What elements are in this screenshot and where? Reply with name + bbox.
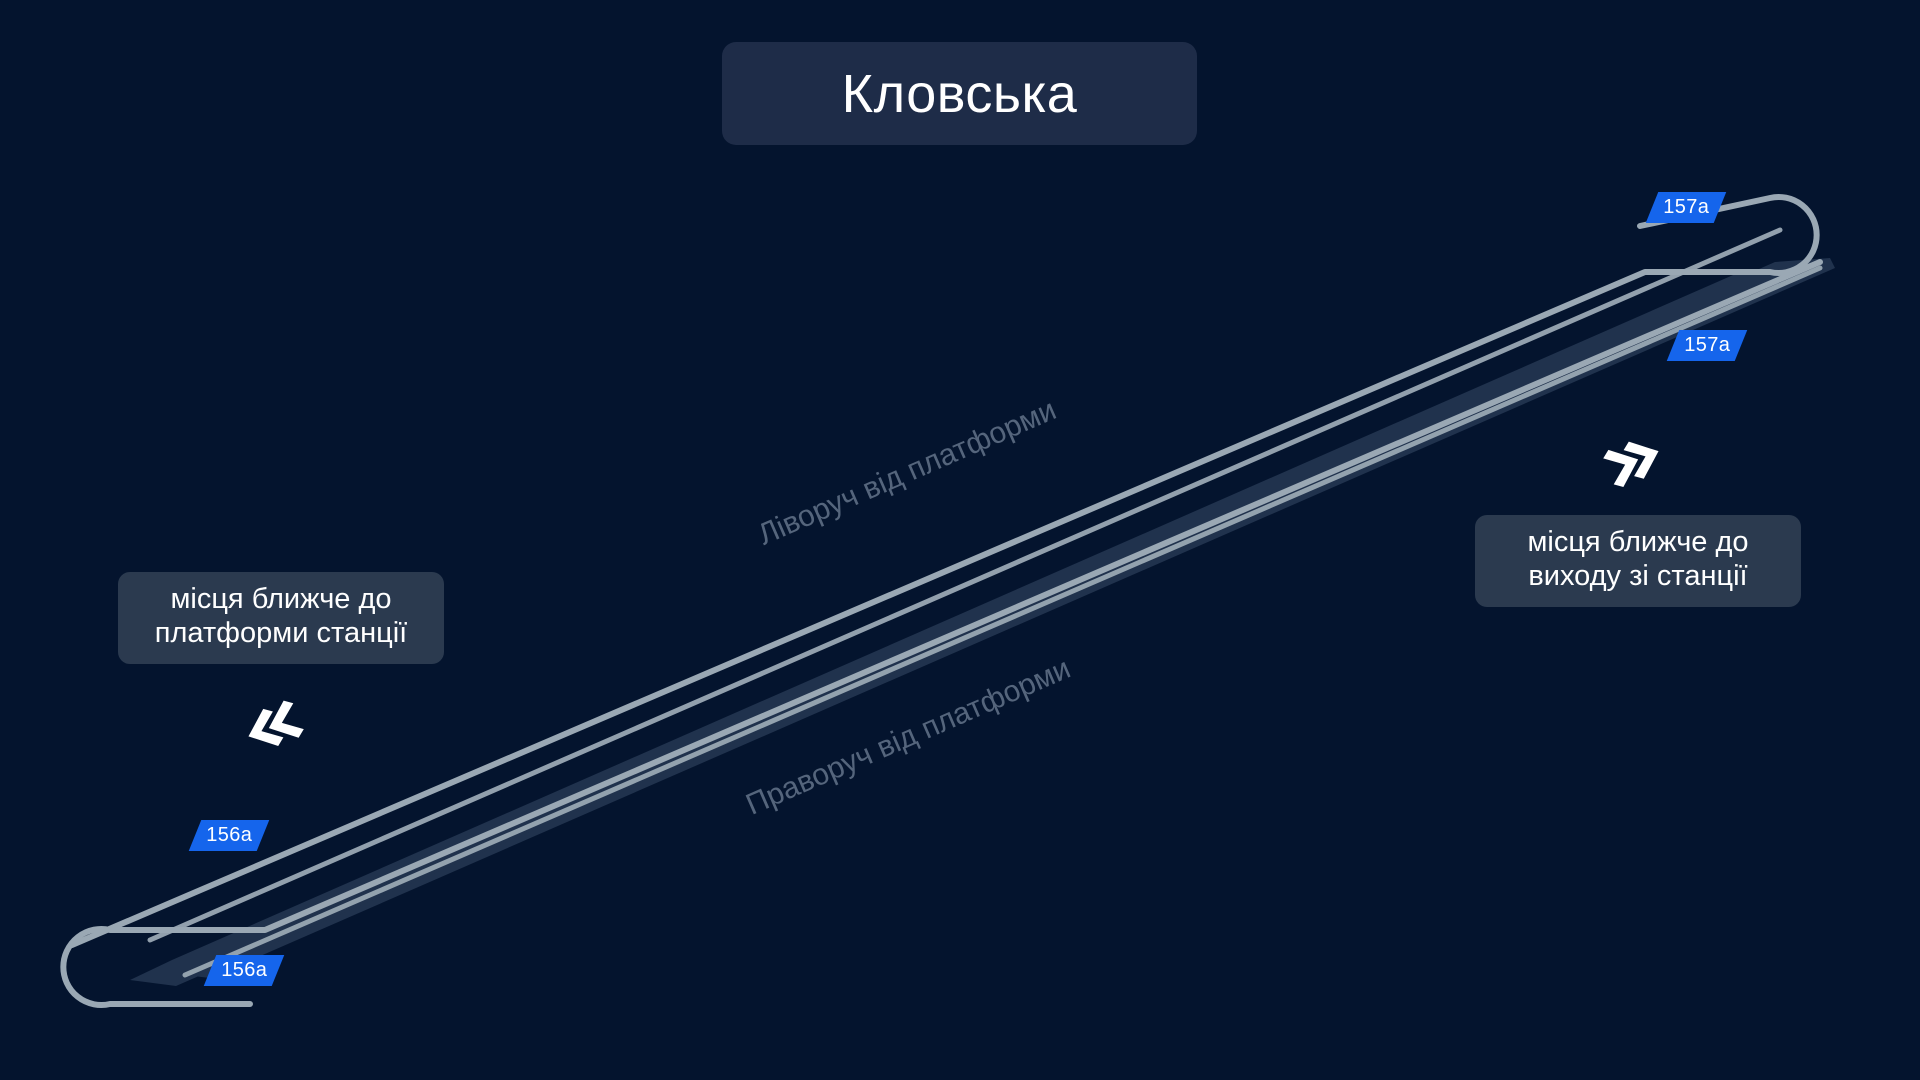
station-title-pill: Кловська (722, 42, 1197, 145)
double-chevron-left-icon (240, 700, 310, 760)
car-badge-label: 157а (1684, 334, 1730, 356)
double-chevron-right-icon (1600, 435, 1670, 495)
map-canvas: Кловська Ліворуч від платформи Праворуч … (0, 0, 1920, 1080)
car-badge-label: 156а (221, 959, 267, 981)
car-badge-label: 156а (206, 824, 252, 846)
car-badge-156a-inner: 156а (189, 820, 270, 851)
car-badge-157a-outer: 157а (1646, 192, 1727, 223)
car-badge-label: 157а (1663, 196, 1709, 218)
car-badge-156a-outer: 156а (204, 955, 285, 986)
label-closer-to-platform: місця ближче до платформи станції (118, 572, 444, 664)
car-badge-157a-inner: 157а (1667, 330, 1748, 361)
page-title: Кловська (842, 67, 1078, 121)
label-closer-to-exit: місця ближче до виходу зі станції (1475, 515, 1801, 607)
